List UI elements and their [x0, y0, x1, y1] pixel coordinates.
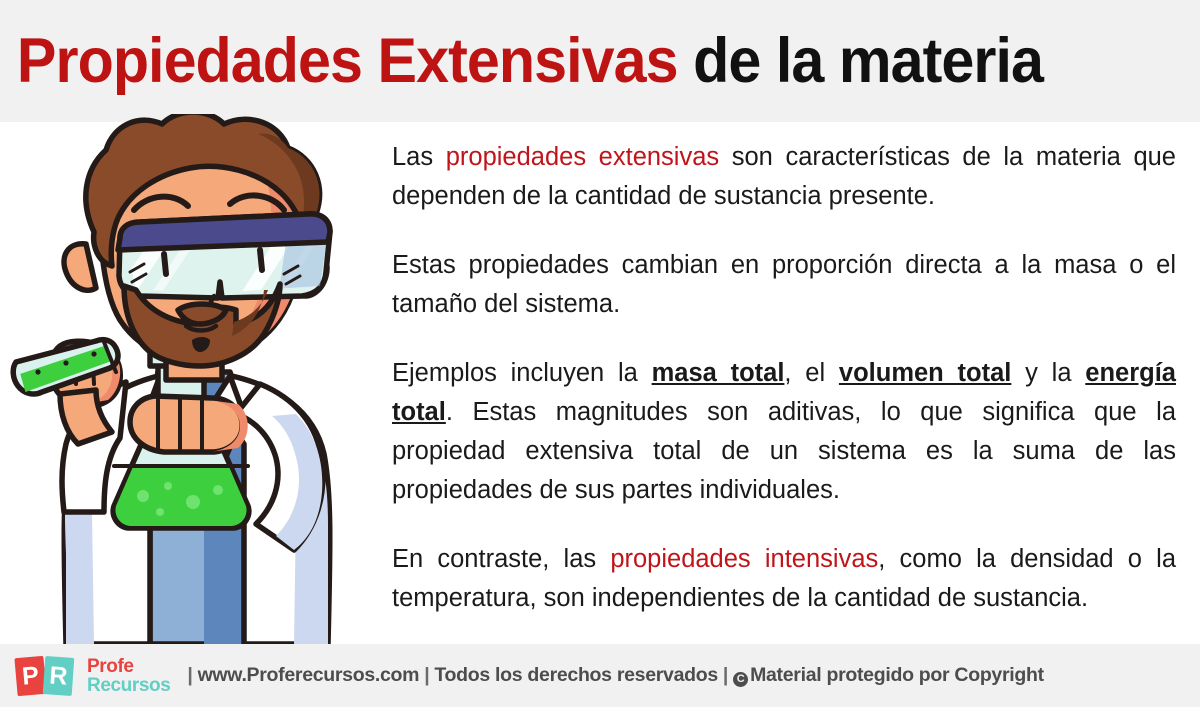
- eye-left: [164, 254, 166, 274]
- logo-word-recursos: Recursos: [87, 676, 170, 695]
- footer-rights: Todos los derechos reservados: [434, 664, 718, 686]
- p2-seg-0: Estas propiedades cambian en proporción …: [392, 251, 1176, 318]
- p4-highlight-intensivas: propiedades intensivas: [610, 545, 878, 573]
- header-band: Propiedades Extensivas de la materia: [0, 0, 1200, 122]
- logo-wordmark: Profe Recursos: [87, 657, 170, 695]
- footer-website[interactable]: www.Proferecursos.com: [198, 664, 420, 686]
- copyright-icon: C: [733, 672, 748, 687]
- moustache: [178, 304, 226, 324]
- paragraph-3: Ejemplos incluyen la masa total, el volu…: [392, 354, 1176, 510]
- ear-left: [64, 244, 96, 290]
- footer-separator-1: |: [187, 664, 192, 686]
- safety-goggles: [108, 214, 334, 304]
- body-text-column: Las propiedades extensivas son caracterí…: [392, 138, 1176, 618]
- content-area: Las propiedades extensivas son caracterí…: [0, 122, 1200, 644]
- p1-seg-0: Las: [392, 143, 446, 171]
- title-red-part: Propiedades Extensivas: [17, 26, 678, 96]
- logo-tile-p: P: [14, 655, 46, 695]
- term-volumen-total: volumen total: [839, 359, 1011, 387]
- footer-copyright: Material protegido por Copyright: [750, 664, 1044, 686]
- footer-separator-3: |: [723, 664, 728, 686]
- logo-tiles: P R: [16, 655, 78, 697]
- paragraph-2: Estas propiedades cambian en proporción …: [392, 246, 1176, 324]
- logo-word-profe: Profe: [87, 657, 170, 676]
- paragraph-1: Las propiedades extensivas son caracterí…: [392, 138, 1176, 216]
- title-black-part: de la materia: [693, 26, 1043, 96]
- p3-seg-2: , el: [784, 359, 838, 387]
- p3-seg-0: Ejemplos incluyen la: [392, 359, 652, 387]
- footer-band: P R Profe Recursos |www.Proferecursos.co…: [0, 644, 1200, 707]
- p3-seg-4: y la: [1011, 359, 1085, 387]
- p3-seg-6: . Estas magnitudes son aditivas, lo que …: [392, 398, 1176, 504]
- proferecursos-logo[interactable]: P R Profe Recursos: [16, 655, 170, 697]
- page-title: Propiedades Extensivas de la materia: [0, 30, 1043, 93]
- logo-tile-r: R: [43, 656, 75, 696]
- scientist-with-flask-icon: [8, 114, 380, 644]
- paragraph-4: En contraste, las propiedades intensivas…: [392, 540, 1176, 618]
- footer-credits: |www.Proferecursos.com|Todos los derecho…: [182, 664, 1043, 687]
- eye-right: [260, 250, 262, 270]
- infographic-page: Propiedades Extensivas de la materia: [0, 0, 1200, 707]
- p4-seg-0: En contraste, las: [392, 545, 610, 573]
- p1-highlight-extensivas: propiedades extensivas: [446, 143, 719, 171]
- footer-separator-2: |: [424, 664, 429, 686]
- term-masa-total: masa total: [652, 359, 785, 387]
